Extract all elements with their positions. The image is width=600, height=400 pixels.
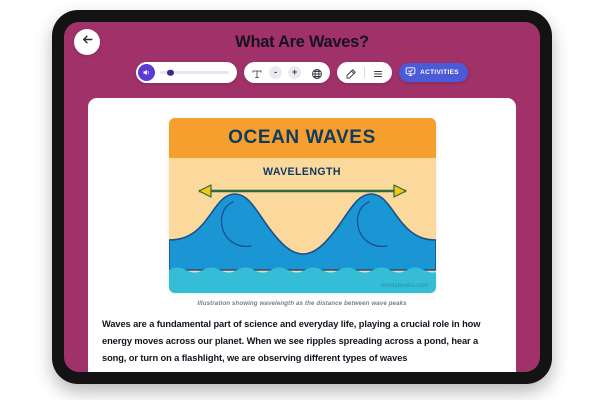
tablet-device-frame: What Are Waves?	[52, 10, 552, 384]
list-lines-icon[interactable]	[372, 67, 384, 79]
illustration-title: OCEAN WAVES	[228, 127, 376, 149]
ocean-waves-illustration: OCEAN WAVES	[169, 118, 436, 293]
activities-button-label: ACTIVITIES	[420, 69, 459, 76]
text-size-icon[interactable]	[251, 67, 263, 79]
speaker-volume-icon	[142, 64, 151, 82]
decrease-text-size-button[interactable]: -	[269, 66, 282, 79]
highlighter-pen-icon[interactable]	[345, 67, 357, 79]
monitor-check-icon	[405, 64, 416, 82]
illustration-wrapper: OCEAN WAVES	[88, 98, 516, 293]
text-control-group: - +	[244, 62, 330, 83]
volume-slider-track[interactable]	[160, 71, 229, 74]
play-audio-button[interactable]	[138, 64, 155, 81]
annotation-tools-group	[337, 62, 392, 83]
illustration-body: WAVELENGTH workybooks.com	[169, 158, 436, 293]
lesson-content-card: OCEAN WAVES	[88, 98, 516, 372]
reader-toolbar: - +	[64, 62, 540, 83]
increase-text-size-button[interactable]: +	[288, 66, 301, 79]
illustration-caption: Illustration showing wavelength as the d…	[88, 300, 516, 307]
back-button[interactable]	[74, 29, 100, 55]
lesson-body-text: Waves are a fundamental part of science …	[102, 316, 502, 368]
tablet-screen: What Are Waves?	[64, 22, 540, 372]
audio-control-group	[136, 62, 237, 83]
activities-button[interactable]: ACTIVITIES	[399, 63, 468, 82]
globe-icon[interactable]	[311, 67, 323, 79]
wavelength-annotation-label: WAVELENGTH	[169, 166, 436, 178]
volume-slider-knob[interactable]	[167, 69, 174, 76]
arrow-left-icon	[81, 33, 94, 51]
page-title: What Are Waves?	[64, 22, 540, 52]
app-header: What Are Waves?	[64, 22, 540, 64]
wave-diagram-graphic	[169, 158, 436, 293]
illustration-header: OCEAN WAVES	[169, 118, 436, 158]
watermark-label: workybooks.com	[381, 283, 428, 289]
toolbar-divider	[364, 67, 365, 78]
screenshot-root: What Are Waves?	[0, 0, 600, 400]
